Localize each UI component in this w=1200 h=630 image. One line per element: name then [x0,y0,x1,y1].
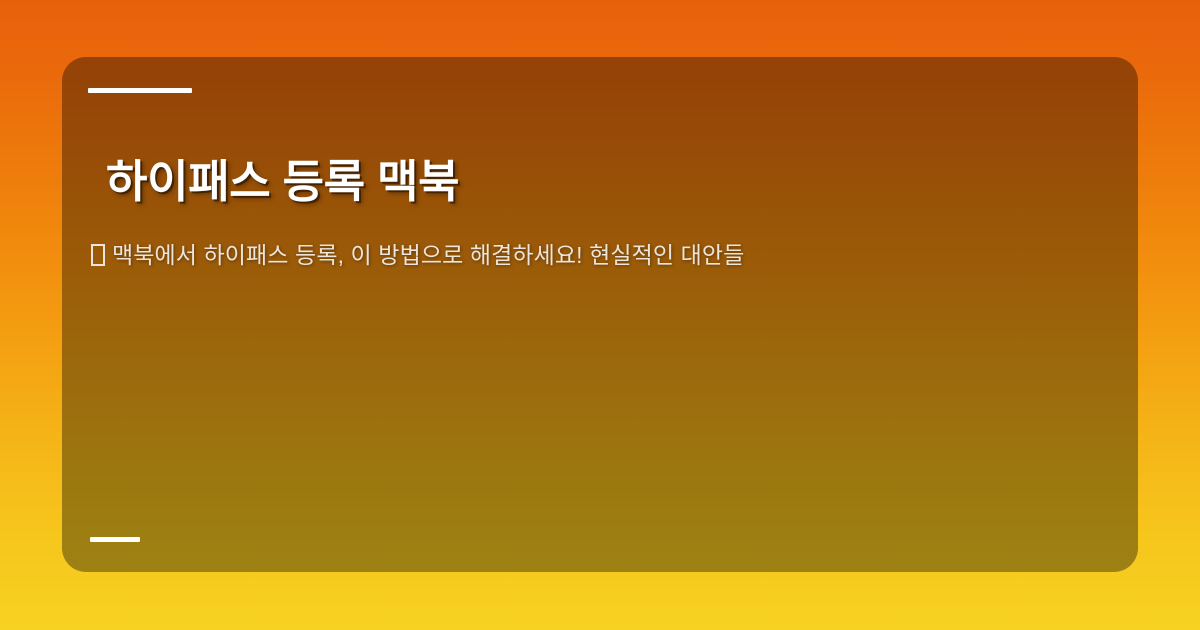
top-accent-rule [88,88,192,93]
bottom-accent-rule [90,537,140,542]
page-title: 하이패스 등록 맥북 [91,154,1098,210]
card-text-block: 하이패스 등록 맥북 맥북에서 하이패스 등록, 이 방법으로 해결하세요! 현… [91,154,1098,273]
content-card: 하이패스 등록 맥북 맥북에서 하이패스 등록, 이 방법으로 해결하세요! 현… [62,57,1138,572]
og-image-canvas: 하이패스 등록 맥북 맥북에서 하이패스 등록, 이 방법으로 해결하세요! 현… [0,0,1200,630]
missing-glyph-box-icon [91,244,105,266]
page-subtitle: 맥북에서 하이패스 등록, 이 방법으로 해결하세요! 현실적인 대안들 [91,239,1098,272]
page-subtitle-text: 맥북에서 하이패스 등록, 이 방법으로 해결하세요! 현실적인 대안들 [112,242,744,268]
